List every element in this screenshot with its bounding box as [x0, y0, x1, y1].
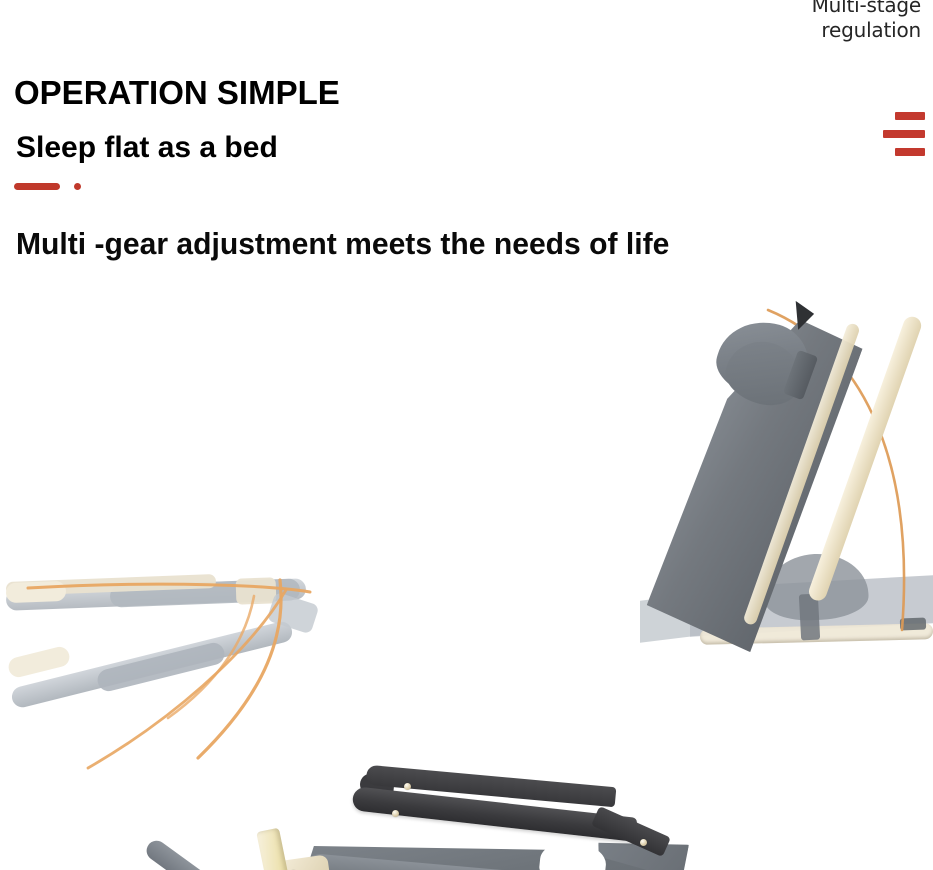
multi-stage-regulation-caption: Multi-stage regulation: [621, 0, 921, 43]
red-underline-bar: [14, 183, 60, 190]
seat-fabric-cutout: [538, 839, 608, 870]
red-dot-icon: [74, 183, 81, 190]
marketing-image-canvas: Multi-stage regulation OPERATION SIMPLE …: [0, 0, 933, 870]
product-illustration-folding-recliner: [0, 282, 933, 870]
headline-sleep-flat-as-a-bed: Sleep flat as a bed: [16, 131, 278, 165]
red-bar-middle: [883, 130, 925, 138]
red-bar-stack-decoration: [881, 112, 925, 160]
red-bar-top: [895, 112, 925, 120]
headline-operation-simple: OPERATION SIMPLE: [14, 74, 340, 112]
red-bar-bottom: [895, 148, 925, 156]
armrest-screw-icon: [640, 839, 647, 846]
armrest-screw-icon: [392, 810, 399, 817]
armrest-screw-icon: [404, 783, 411, 790]
footrest-angle-arc-icon: [18, 562, 318, 772]
headline-multi-gear-adjustment: Multi -gear adjustment meets the needs o…: [16, 226, 669, 262]
